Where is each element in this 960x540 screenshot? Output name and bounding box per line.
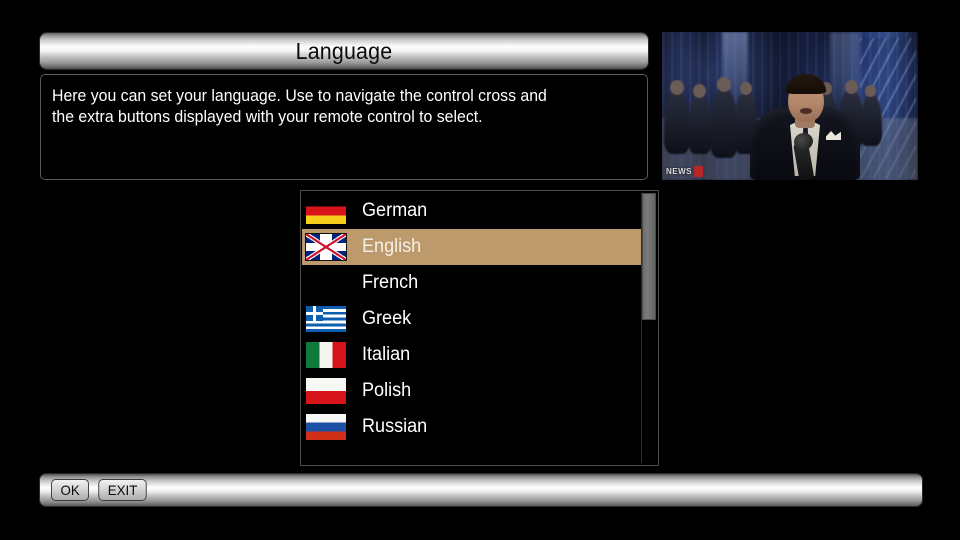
language-label: German	[362, 200, 427, 222]
flag-poland-icon	[306, 378, 346, 404]
watermark-badge-icon	[694, 166, 703, 177]
language-row-polish[interactable]: Polish	[302, 373, 642, 409]
language-row-greek[interactable]: Greek	[302, 301, 642, 337]
reporter-hair	[786, 74, 826, 94]
exit-button[interactable]: EXIT	[99, 479, 148, 501]
reporter-mouth	[800, 108, 812, 114]
list-scrollbar-thumb[interactable]	[642, 193, 656, 320]
flag-germany-icon	[306, 198, 346, 224]
flag-france-icon	[306, 270, 346, 296]
language-label: French	[362, 272, 418, 294]
language-label: Italian	[362, 344, 410, 366]
video-reporter	[750, 56, 860, 180]
language-row-german[interactable]: German	[302, 193, 642, 229]
page-title: Language	[296, 38, 393, 65]
watermark-text: NEWS	[666, 167, 692, 176]
help-text: Here you can set your language. Use to n…	[52, 86, 612, 128]
language-row-english[interactable]: English	[302, 229, 643, 265]
channel-watermark: NEWS	[666, 165, 703, 177]
language-label: Greek	[362, 308, 411, 330]
language-row-russian[interactable]: Russian	[302, 409, 642, 445]
flag-united-kingdom-icon	[306, 234, 346, 260]
language-label: Polish	[362, 380, 411, 402]
language-label: Russian	[362, 416, 427, 438]
video-preview-pane[interactable]: NEWS	[662, 32, 918, 180]
language-label: English	[362, 236, 421, 258]
language-row-french[interactable]: French	[302, 265, 642, 301]
flag-italy-icon	[306, 342, 346, 368]
language-list[interactable]: GermanEnglishFrenchGreekItalianPolishRus…	[302, 193, 642, 445]
title-bar: Language	[40, 33, 648, 69]
language-list-panel[interactable]: GermanEnglishFrenchGreekItalianPolishRus…	[300, 190, 659, 466]
flag-greece-icon	[306, 306, 346, 332]
ok-button[interactable]: OK	[51, 479, 89, 501]
action-bar: OKEXIT	[40, 474, 922, 506]
list-scrollbar-track[interactable]	[641, 193, 655, 463]
language-row-italian[interactable]: Italian	[302, 337, 642, 373]
help-text-box: Here you can set your language. Use to n…	[40, 74, 648, 180]
flag-russia-icon	[306, 414, 346, 440]
